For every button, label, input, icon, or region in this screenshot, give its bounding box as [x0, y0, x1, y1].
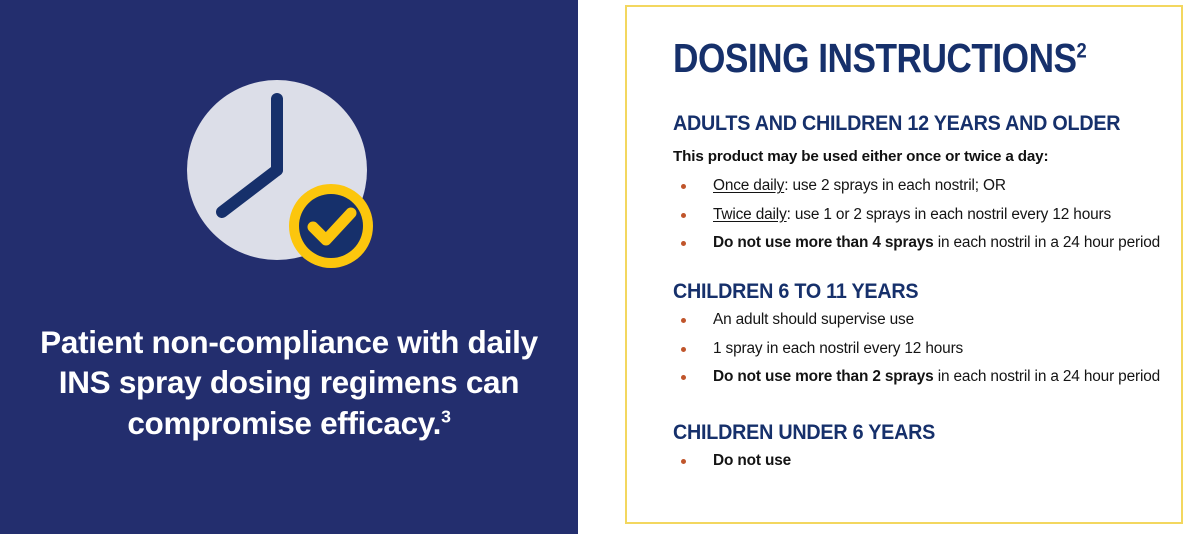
list-item: Do not use more than 4 sprays in each no… — [673, 235, 1160, 250]
section-subheading: This product may be used either once or … — [673, 148, 1160, 166]
list-item: Do not use — [673, 453, 952, 468]
bullet-list: An adult should supervise use 1 spray in… — [673, 312, 1160, 384]
bullet-text: in each nostril in a 24 hour period — [934, 368, 1160, 385]
bullet-dot-icon — [681, 347, 686, 352]
caption-line-3-text: compromise efficacy. — [127, 405, 441, 441]
bullet-dot-icon — [681, 184, 686, 189]
page-title-text: DOSING INSTRUCTIONS — [673, 35, 1077, 81]
bullet-emphasis: Do not use — [713, 452, 791, 469]
bullet-dot-icon — [681, 213, 686, 218]
clock-with-checkmark-icon — [179, 72, 399, 282]
section-heading: CHILDREN 6 TO 11 YEARS — [673, 280, 1131, 303]
caption-superscript: 3 — [441, 406, 451, 426]
caption-line-2: INS spray dosing regimens can — [40, 362, 538, 402]
list-item: 1 spray in each nostril every 12 hours — [673, 341, 1160, 356]
section-children-6-to-11: CHILDREN 6 TO 11 YEARS An adult should s… — [673, 280, 1160, 384]
list-item: An adult should supervise use — [673, 312, 1160, 327]
list-item: Once daily: use 2 sprays in each nostril… — [673, 178, 1160, 193]
dosing-instructions-infographic: Patient non-compliance with daily INS sp… — [0, 0, 1200, 534]
bullet-list: Do not use — [673, 453, 952, 468]
bullet-emphasis: Do not use more than 4 sprays — [713, 234, 934, 251]
bullet-dot-icon — [681, 459, 686, 464]
bullet-text: : use 1 or 2 sprays in each nostril ever… — [787, 206, 1111, 223]
bullet-emphasis: Do not use more than 2 sprays — [713, 368, 934, 385]
bullet-dot-icon — [681, 375, 686, 380]
bullet-text: An adult should supervise use — [713, 311, 914, 328]
section-adults-and-children-12-and-older: ADULTS AND CHILDREN 12 YEARS AND OLDER T… — [673, 112, 1160, 251]
bullet-text: in each nostril in a 24 hour period — [934, 234, 1160, 251]
bullet-dot-icon — [681, 241, 686, 246]
section-heading: CHILDREN UNDER 6 YEARS — [673, 421, 935, 444]
left-panel-caption: Patient non-compliance with daily INS sp… — [40, 322, 538, 443]
list-item: Do not use more than 2 sprays in each no… — [673, 369, 1160, 384]
page-title-superscript: 2 — [1077, 38, 1087, 62]
bullet-text: 1 spray in each nostril every 12 hours — [713, 340, 963, 357]
bullet-emphasis: Once daily — [713, 177, 784, 194]
caption-line-3: compromise efficacy.3 — [40, 403, 538, 443]
page-title: DOSING INSTRUCTIONS2 — [673, 38, 1086, 79]
bullet-list: Once daily: use 2 sprays in each nostril… — [673, 178, 1160, 250]
list-item: Twice daily: use 1 or 2 sprays in each n… — [673, 207, 1160, 222]
bullet-emphasis: Twice daily — [713, 206, 787, 223]
caption-line-1: Patient non-compliance with daily — [40, 322, 538, 362]
bullet-text: : use 2 sprays in each nostril; OR — [784, 177, 1006, 194]
left-navy-panel: Patient non-compliance with daily INS sp… — [0, 0, 578, 534]
section-heading: ADULTS AND CHILDREN 12 YEARS AND OLDER — [673, 112, 1131, 135]
clock-icon-container — [0, 72, 578, 292]
section-children-under-6: CHILDREN UNDER 6 YEARS Do not use — [673, 421, 952, 469]
bullet-dot-icon — [681, 318, 686, 323]
